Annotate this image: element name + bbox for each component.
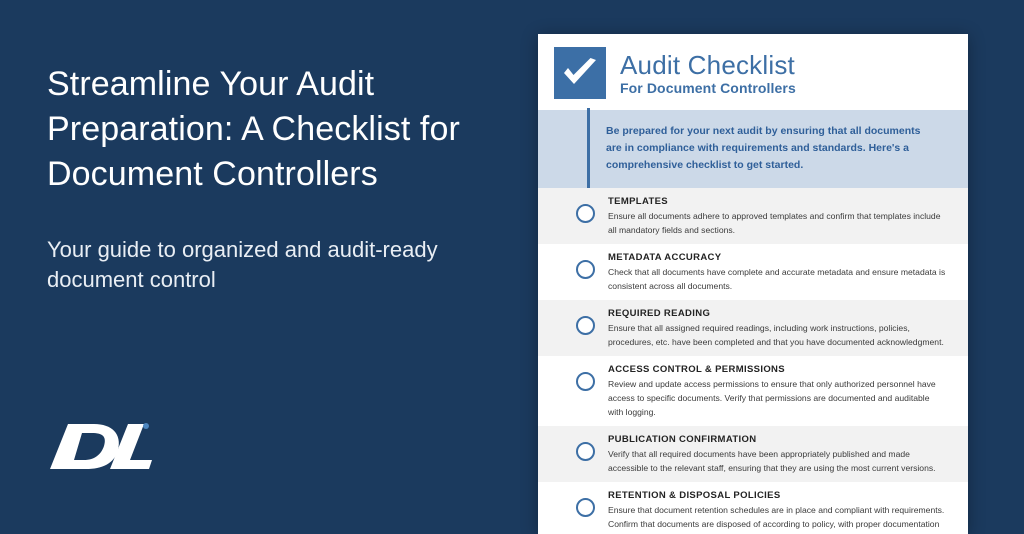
checklist-item-title: TEMPLATES	[608, 196, 946, 207]
page-title: Streamline Your Audit Preparation: A Che…	[47, 62, 487, 197]
card-subtitle: For Document Controllers	[620, 81, 796, 95]
intro-text: Be prepared for your next audit by ensur…	[606, 123, 934, 174]
checklist-timeline: TEMPLATESEnsure all documents adhere to …	[538, 188, 968, 534]
checklist-item-title: ACCESS CONTROL & PERMISSIONS	[608, 364, 946, 375]
card-title: Audit Checklist	[620, 52, 796, 78]
checklist-item-title: METADATA ACCURACY	[608, 252, 946, 263]
checklist-item-description: Review and update access permissions to …	[608, 378, 946, 419]
timeline-node-column	[538, 308, 608, 349]
timeline-node-column	[538, 196, 608, 237]
checklist-item-title: PUBLICATION CONFIRMATION	[608, 434, 946, 445]
checklist-item-title: RETENTION & DISPOSAL POLICIES	[608, 490, 946, 501]
card-header-text: Audit Checklist For Document Controllers	[620, 52, 796, 95]
checklist-item-description: Check that all documents have complete a…	[608, 266, 946, 293]
brand-logo	[48, 412, 178, 482]
timeline-node-column	[538, 252, 608, 293]
checklist-item-description: Ensure that document retention schedules…	[608, 504, 946, 534]
checklist-item[interactable]: PUBLICATION CONFIRMATIONVerify that all …	[538, 426, 968, 482]
checklist-item-description: Ensure that all assigned required readin…	[608, 322, 946, 349]
checklist-items: TEMPLATESEnsure all documents adhere to …	[538, 188, 968, 534]
checklist-node-icon	[576, 260, 595, 279]
checklist-node-icon	[576, 498, 595, 517]
checklist-node-icon	[576, 442, 595, 461]
checklist-node-icon	[576, 316, 595, 335]
card-header: Audit Checklist For Document Controllers	[538, 34, 968, 110]
timeline-node-column	[538, 364, 608, 419]
checklist-item[interactable]: REQUIRED READINGEnsure that all assigned…	[538, 300, 968, 356]
checklist-item-description: Ensure all documents adhere to approved …	[608, 210, 946, 237]
checklist-item-body: PUBLICATION CONFIRMATIONVerify that all …	[608, 434, 946, 475]
checklist-node-icon	[576, 372, 595, 391]
checklist-item-body: RETENTION & DISPOSAL POLICIESEnsure that…	[608, 490, 946, 534]
timeline-node-column	[538, 434, 608, 475]
timeline-node-column	[538, 490, 608, 534]
checklist-item-body: METADATA ACCURACYCheck that all document…	[608, 252, 946, 293]
checklist-item[interactable]: TEMPLATESEnsure all documents adhere to …	[538, 188, 968, 244]
checklist-node-icon	[576, 204, 595, 223]
promo-panel: Streamline Your Audit Preparation: A Che…	[47, 62, 487, 295]
checklist-item[interactable]: ACCESS CONTROL & PERMISSIONSReview and u…	[538, 356, 968, 426]
page-subtitle: Your guide to organized and audit-ready …	[47, 235, 487, 296]
checklist-item-title: REQUIRED READING	[608, 308, 946, 319]
checklist-item-body: TEMPLATESEnsure all documents adhere to …	[608, 196, 946, 237]
checkmark-icon	[554, 47, 606, 99]
checklist-item-body: ACCESS CONTROL & PERMISSIONSReview and u…	[608, 364, 946, 419]
checklist-item-body: REQUIRED READINGEnsure that all assigned…	[608, 308, 946, 349]
intro-band: Be prepared for your next audit by ensur…	[538, 110, 968, 188]
checklist-item-description: Verify that all required documents have …	[608, 448, 946, 475]
checklist-item[interactable]: METADATA ACCURACYCheck that all document…	[538, 244, 968, 300]
audit-checklist-card: Audit Checklist For Document Controllers…	[538, 34, 968, 534]
checklist-item[interactable]: RETENTION & DISPOSAL POLICIESEnsure that…	[538, 482, 968, 534]
